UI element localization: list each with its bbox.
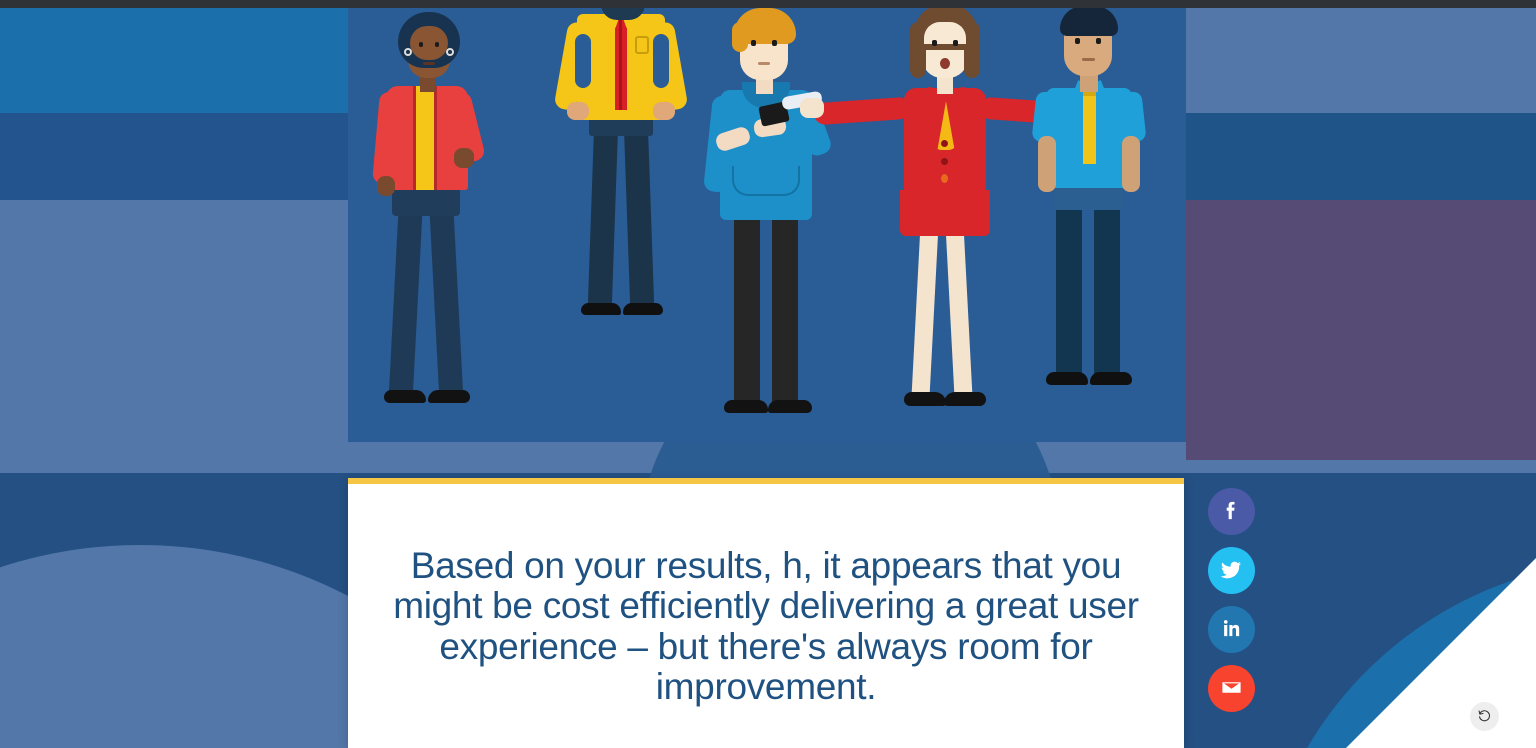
illustration-panel <box>348 0 1186 442</box>
top-chrome-bar <box>0 0 1536 8</box>
figure-man-blue-hoodie <box>700 0 870 442</box>
share-linkedin-button[interactable] <box>1208 606 1255 653</box>
social-share-rail[interactable] <box>1208 488 1255 712</box>
figure-man-blue-shirt <box>1020 0 1180 442</box>
restart-counterclockwise-icon <box>1477 708 1492 726</box>
facebook-icon <box>1220 499 1243 525</box>
result-card: Based on your results, h, it appears tha… <box>348 478 1184 748</box>
share-email-button[interactable] <box>1208 665 1255 712</box>
share-twitter-button[interactable] <box>1208 547 1255 594</box>
background-tint-right-mid <box>1186 113 1536 200</box>
result-message: Based on your results, h, it appears tha… <box>386 546 1146 707</box>
figure-woman-red-jacket <box>368 0 528 442</box>
share-facebook-button[interactable] <box>1208 488 1255 535</box>
restart-button[interactable] <box>1470 702 1499 731</box>
figure-bearded-man-yellow <box>553 0 713 442</box>
background-tint-purple <box>1186 200 1536 460</box>
background-tint-right-top <box>1186 8 1536 113</box>
linkedin-icon <box>1220 617 1243 643</box>
twitter-icon <box>1220 558 1243 584</box>
envelope-icon <box>1220 676 1243 702</box>
